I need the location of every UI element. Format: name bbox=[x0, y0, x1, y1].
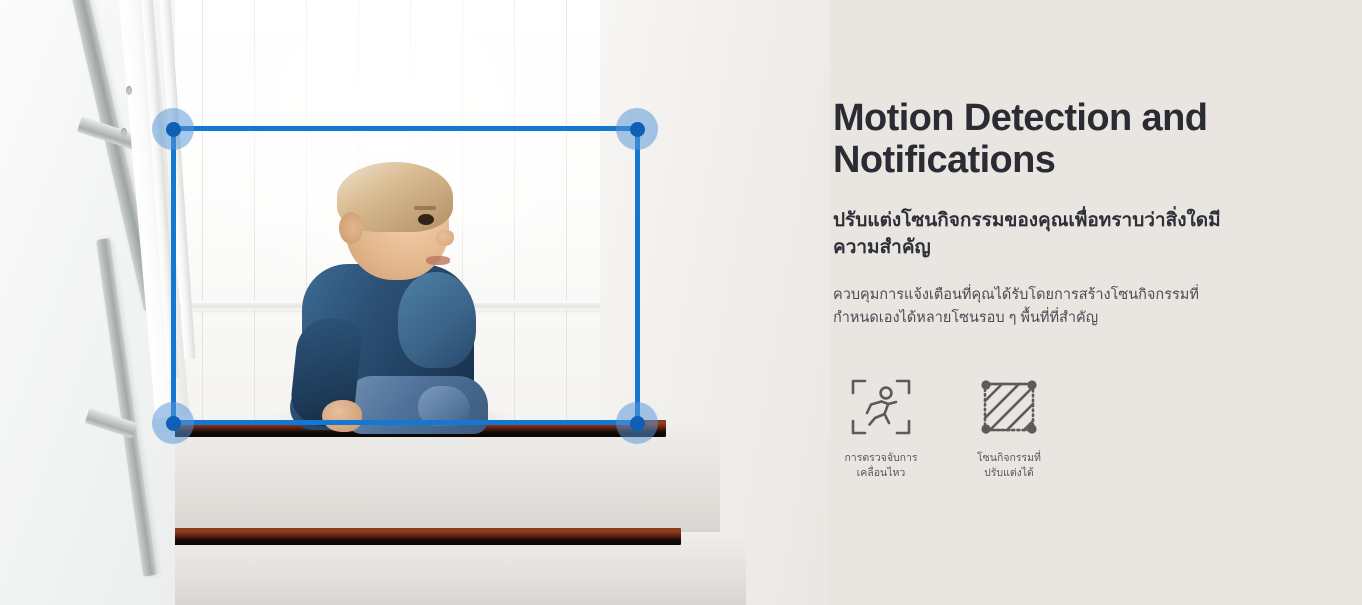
handle-top-right[interactable] bbox=[616, 108, 658, 150]
activity-zone-overlay[interactable] bbox=[0, 0, 830, 605]
handle-top-left[interactable] bbox=[152, 108, 194, 150]
handle-bottom-left[interactable] bbox=[152, 402, 194, 444]
motion-detection-hero: Motion Detection and Notifications ปรับแ… bbox=[0, 0, 1362, 605]
camera-scene-photo bbox=[0, 0, 830, 605]
page-title: Motion Detection and Notifications bbox=[833, 98, 1233, 182]
zone-edge-right[interactable] bbox=[635, 129, 640, 423]
feature-label: โซนกิจกรรมที่ ปรับแต่งได้ bbox=[977, 451, 1041, 481]
person-running-in-frame-icon bbox=[846, 374, 916, 440]
feature-motion-detection: การตรวจจับการ เคลื่อนไหว bbox=[833, 374, 929, 481]
hatched-zone-square-icon bbox=[974, 374, 1044, 440]
zone-edge-top[interactable] bbox=[173, 126, 637, 131]
handle-bottom-right[interactable] bbox=[616, 402, 658, 444]
zone-edge-left[interactable] bbox=[171, 129, 176, 423]
zone-edge-bottom[interactable] bbox=[173, 420, 637, 425]
hero-text-panel: Motion Detection and Notifications ปรับแ… bbox=[833, 0, 1362, 605]
photo-stage bbox=[0, 0, 830, 605]
feature-customizable-activity-zone: โซนกิจกรรมที่ ปรับแต่งได้ bbox=[961, 374, 1057, 481]
feature-label: การตรวจจับการ เคลื่อนไหว bbox=[844, 451, 917, 481]
hero-subheading: ปรับแต่งโซนกิจกรรมของคุณเพื่อทราบว่าสิ่ง… bbox=[833, 208, 1233, 262]
feature-list: การตรวจจับการ เคลื่อนไหว bbox=[833, 374, 1362, 481]
hero-body-text: ควบคุมการแจ้งเตือนที่คุณได้รับโดยการสร้า… bbox=[833, 284, 1233, 330]
